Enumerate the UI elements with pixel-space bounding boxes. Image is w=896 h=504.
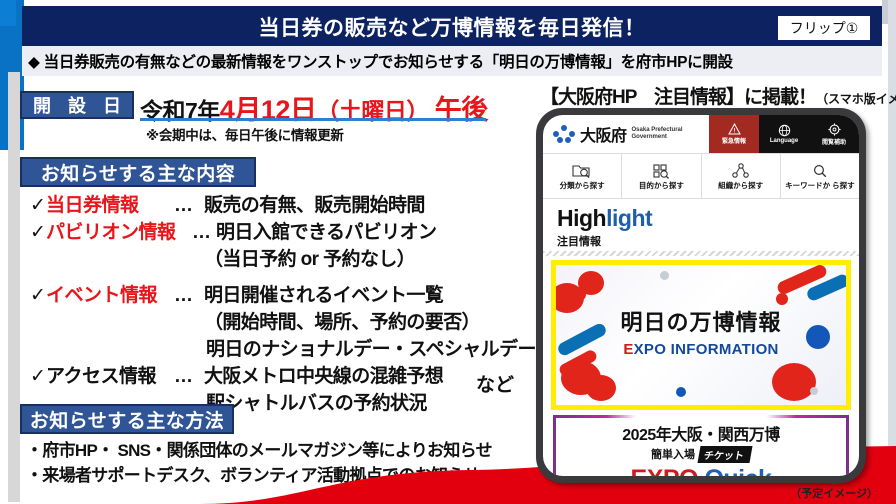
list-item-extra: （開始時間、場所、予約の要否）	[30, 310, 530, 337]
expo-quick-ticket-tag: チケット	[698, 446, 753, 463]
ellipsis-icon: …	[174, 193, 204, 218]
subheader-text: ◆ 当日券販売の有無などの最新情報をワンストップでお知らせする「明日の万博情報」…	[22, 50, 733, 72]
expo-quick-easy-entry: 簡単入場	[651, 446, 695, 462]
magnifier-icon	[811, 163, 829, 179]
osaka-logo: 大阪府 Osaka Prefectural Government	[543, 115, 709, 153]
expo-quick-line1: 2025年大阪・関西万博	[622, 421, 780, 445]
slide-root: 当日券の販売など万博情報を毎日発信！ フリップ① ◆ 当日券販売の有無などの最新…	[0, 0, 896, 504]
list-item-value: 明日入館できるパビリオン	[216, 220, 436, 245]
ellipsis-icon: …	[192, 220, 216, 245]
nav-item-purpose[interactable]: 目的から探す	[622, 154, 701, 198]
decor-dot	[660, 271, 669, 280]
etc-label: など	[476, 370, 514, 397]
check-icon: ✓	[30, 220, 46, 245]
nav-item-organization[interactable]: 組織から探す	[702, 154, 781, 198]
list-spacer	[30, 274, 530, 283]
list-item-value: 明日開催されるイベント一覧	[204, 283, 443, 308]
accessibility-label: 閲覧補助	[822, 137, 846, 146]
list-item-extra-text: 明日のナショナルデー・スペシャルデー	[206, 337, 536, 362]
list-item: ✓ アクセス情報 … 大阪メトロ中央線の混雑予想	[30, 364, 530, 391]
language-button[interactable]: Language	[759, 115, 809, 153]
banner-title-ja: 明日の万博情報	[556, 305, 846, 337]
osaka-dots-icon	[553, 125, 575, 143]
banner-title-en-first: E	[623, 341, 633, 358]
right-caption-main: 【大阪府HP 注目情報】に掲載！	[540, 87, 816, 108]
planned-image-note: （予定イメージ）	[790, 485, 878, 501]
opening-date-note: ※会期中は、毎日午後に情報更新	[146, 124, 344, 144]
warning-triangle-icon	[728, 123, 741, 135]
banner-title-en: EXPO INFORMATION	[556, 341, 846, 358]
decor-dot	[676, 387, 686, 397]
nav-item-purpose-label: 目的から探す	[639, 181, 684, 190]
expo-quick-logo-expo: EXPO	[631, 465, 698, 477]
org-chart-icon	[731, 163, 751, 179]
phone-mockup: 大阪府 Osaka Prefectural Government 緊急情報	[536, 108, 866, 483]
list-item-extra: （当日予約 or 予約なし）	[30, 247, 530, 274]
opening-date-line: 令和7年4月12日（土曜日） 午後	[140, 88, 488, 127]
list-item: ✓ イベント情報 … 明日開催されるイベント一覧	[30, 283, 530, 310]
highlight-title: Highlight	[557, 205, 859, 232]
brand-name-en: Osaka Prefectural Government	[632, 127, 683, 141]
methods-badge: お知らせする主な方法	[20, 404, 234, 434]
list-item-extra-text: 駅シャトルバスの予約状況	[206, 391, 427, 416]
emergency-info-label: 緊急情報	[722, 136, 746, 145]
list-item-value: 販売の有無、販売開始時間	[204, 193, 425, 218]
decor-blob	[772, 363, 816, 401]
list-item-extra: 明日のナショナルデー・スペシャルデー	[30, 337, 530, 364]
language-label: Language	[770, 138, 798, 144]
left-shadow-strip	[8, 72, 20, 502]
right-caption-sub: （スマホ版イメージ）	[816, 92, 896, 106]
nav-item-keyword-label: キーワードか ら探す	[785, 181, 855, 190]
check-icon: ✓	[30, 364, 46, 389]
right-caption: 【大阪府HP 注目情報】に掲載！（スマホ版イメージ）	[540, 82, 896, 109]
brand-name-ja: 大阪府	[580, 122, 627, 146]
nav-item-keyword[interactable]: キーワードか ら探す	[781, 154, 859, 198]
list-item: ✓ 当日券情報 … 販売の有無、販売開始時間	[30, 193, 530, 220]
expo-information-banner[interactable]: 明日の万博情報 EXPO INFORMATION	[551, 260, 851, 410]
header-bar: 当日券の販売など万博情報を毎日発信！ フリップ①	[22, 6, 882, 46]
banner-text-block: 明日の万博情報 EXPO INFORMATION	[556, 305, 846, 358]
expo-quick-banner[interactable]: 2025年大阪・関西万博 簡単入場 チケット EXPO Quick	[553, 415, 849, 476]
expo-quick-line2: 簡単入場 チケット	[651, 446, 751, 463]
subheader-bar: ◆ 当日券販売の有無などの最新情報をワンストップでお知らせする「明日の万博情報」…	[22, 46, 882, 76]
gear-icon	[828, 123, 841, 136]
globe-icon	[778, 124, 791, 137]
list-item: ✓ パビリオン情報 … 明日入館できるパビリオン	[30, 220, 530, 247]
emergency-info-button[interactable]: 緊急情報	[709, 115, 759, 153]
contents-badge: お知らせする主な内容	[20, 157, 256, 187]
list-item-extra-text: （開始時間、場所、予約の要否）	[204, 310, 480, 335]
list-item-key: アクセス情報	[46, 364, 174, 389]
highlight-section: Highlight 注目情報	[543, 199, 859, 249]
nav-item-category[interactable]: 分類から探す	[543, 154, 622, 198]
ellipsis-icon: …	[174, 283, 204, 308]
phone-nav: 分類から探す 目的から探す	[543, 153, 859, 199]
expo-quick-logo-quick: Quick	[704, 465, 771, 477]
list-item-key: 当日券情報	[46, 193, 174, 218]
phone-header: 大阪府 Osaka Prefectural Government 緊急情報	[543, 115, 859, 153]
banner-title-en-rest: XPO INFORMATION	[634, 341, 779, 358]
nav-item-organization-label: 組織から探す	[718, 181, 763, 190]
ellipsis-icon: …	[174, 364, 204, 389]
highlight-subtitle: 注目情報	[557, 233, 859, 249]
page-title: 当日券の販売など万博情報を毎日発信！	[22, 12, 882, 42]
decor-blob	[586, 375, 616, 401]
accessibility-button[interactable]: 閲覧補助	[809, 115, 859, 153]
highlight-title-part2: light	[606, 205, 652, 231]
list-item-key: パビリオン情報	[46, 220, 192, 245]
decor-blob	[776, 293, 788, 305]
decor-dot	[810, 387, 818, 395]
right-edge-strip-top	[882, 0, 888, 24]
grid-search-icon	[651, 163, 671, 179]
check-icon: ✓	[30, 283, 46, 308]
list-item-key: イベント情報	[46, 283, 174, 308]
flip-number-badge: フリップ①	[776, 14, 872, 42]
expo-quick-logo: EXPO Quick	[631, 465, 772, 477]
right-edge-strip	[888, 0, 896, 504]
list-item-value: 大阪メトロ中央線の混雑予想	[204, 364, 443, 389]
phone-screen: 大阪府 Osaka Prefectural Government 緊急情報	[543, 115, 859, 476]
expo-quick-inner: 2025年大阪・関西万博 簡単入場 チケット EXPO Quick	[556, 418, 846, 476]
zigzag-divider	[543, 251, 859, 256]
contents-list: ✓ 当日券情報 … 販売の有無、販売開始時間 ✓ パビリオン情報 … 明日入館で…	[30, 193, 530, 418]
decor-blob	[570, 289, 586, 301]
nav-item-category-label: 分類から探す	[560, 181, 605, 190]
folder-search-icon	[571, 163, 593, 179]
highlight-title-part1: High	[557, 205, 606, 231]
list-item-extra-text: （当日予約 or 予約なし）	[204, 247, 415, 272]
check-icon: ✓	[30, 193, 46, 218]
left-accent-strip-top	[0, 0, 16, 26]
opening-date-badge: 開 設 日	[20, 91, 134, 119]
date-underline	[140, 118, 486, 121]
